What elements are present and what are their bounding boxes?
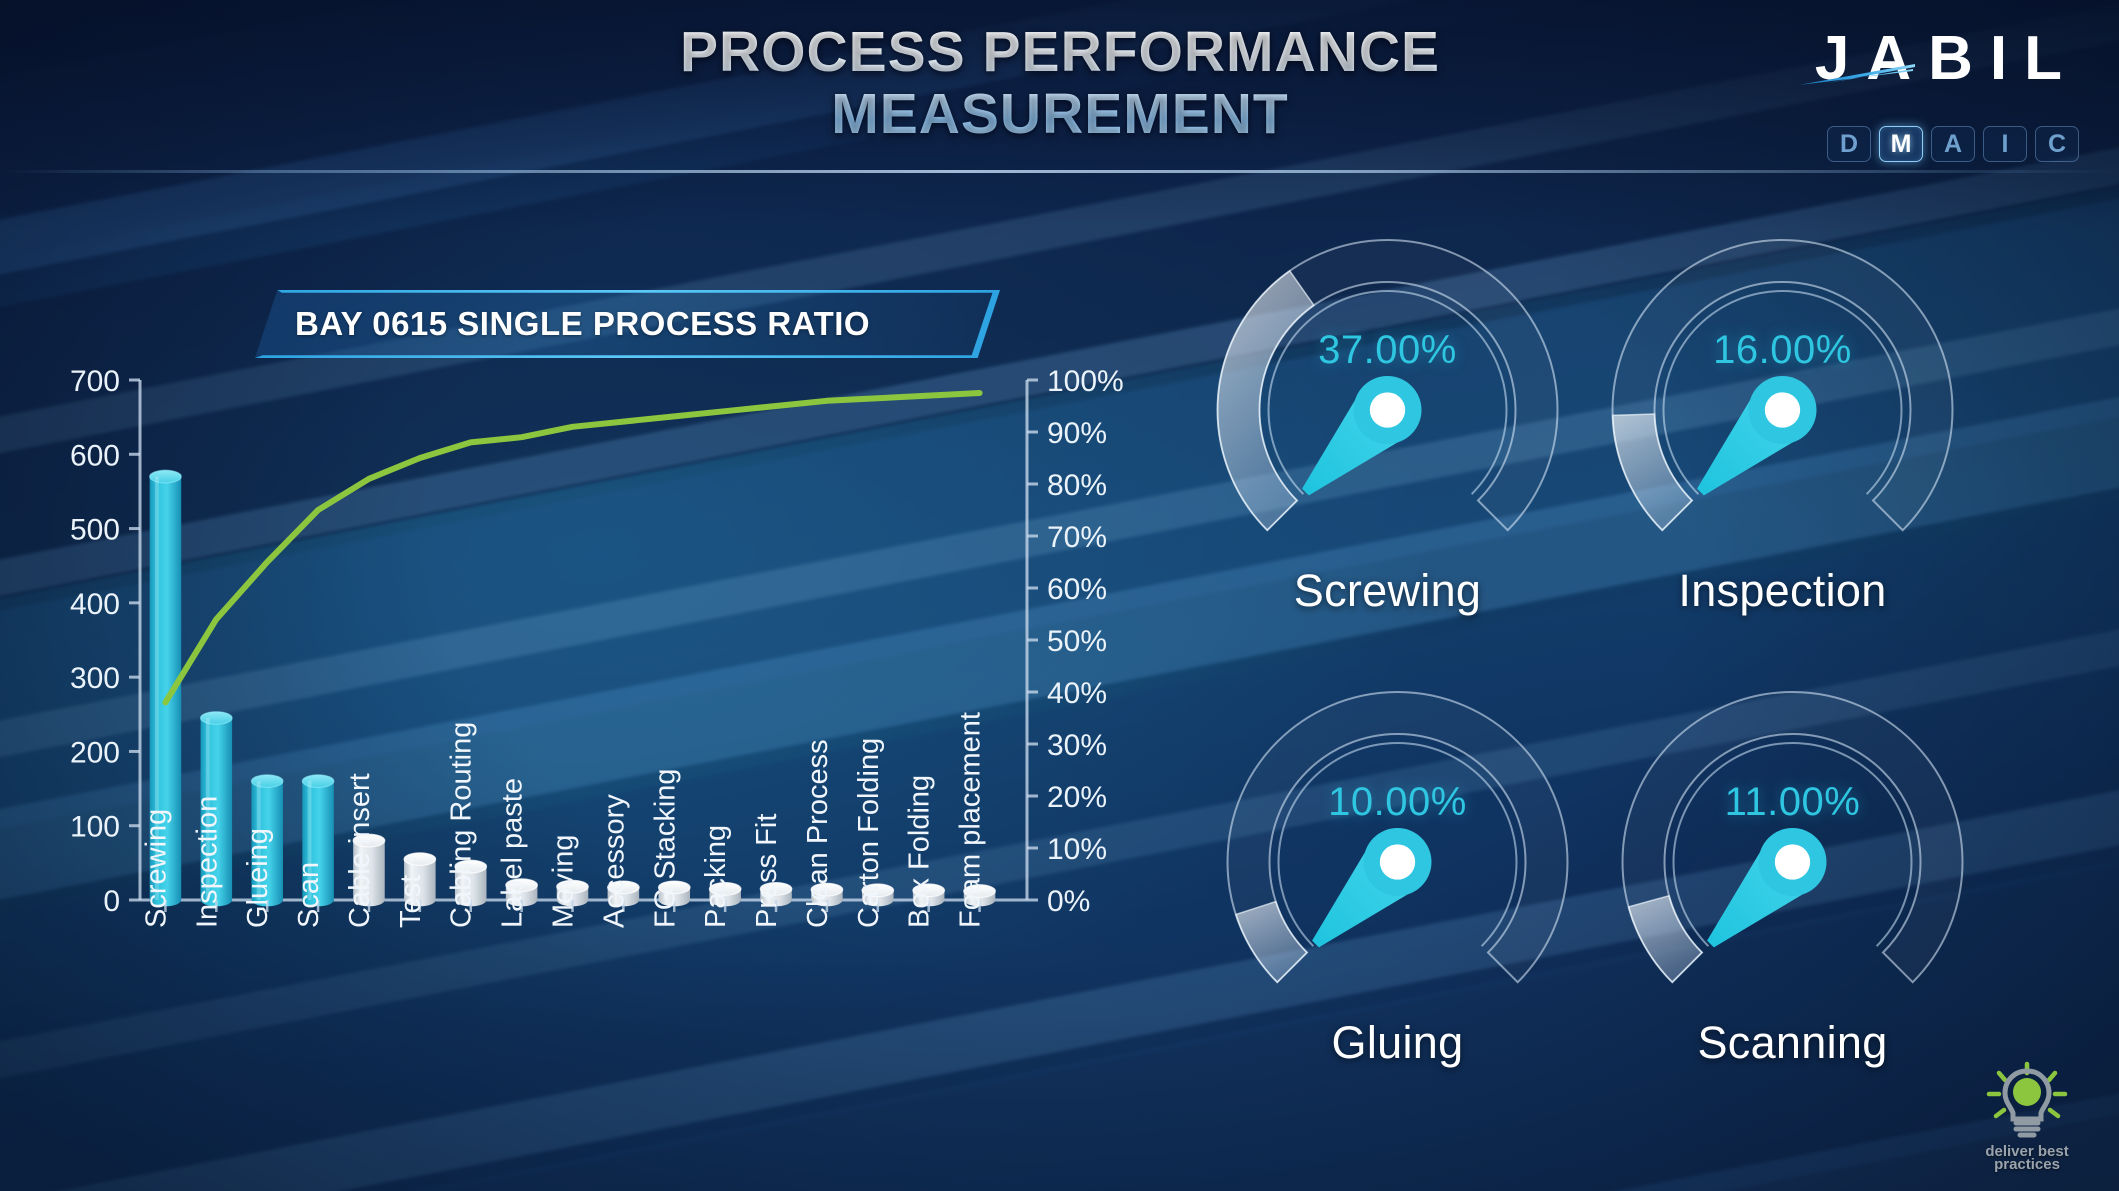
page-title-line2: MEASUREMENT xyxy=(560,84,1560,146)
x-axis-category-label: Carton Folding xyxy=(853,738,885,928)
gauge-value: 37.00% xyxy=(1190,328,1585,373)
dmaic-cell-i[interactable]: I xyxy=(1983,126,2027,162)
gauge-hub-center xyxy=(1775,844,1810,879)
x-axis-category-label: Packing xyxy=(700,825,732,928)
gauge-grid: 37.00%Screwing16.00%Inspection10.00%Glui… xyxy=(1190,210,1980,1110)
y2-axis-tick-label: 40% xyxy=(1047,677,1107,710)
y-axis-tick-label: 700 xyxy=(70,370,120,398)
y-axis-tick-label: 0 xyxy=(103,885,120,918)
dmaic-cell-d[interactable]: D xyxy=(1827,126,1871,162)
y2-axis-tick-label: 80% xyxy=(1047,469,1107,502)
gauge-hub-center xyxy=(1370,392,1405,427)
gauge-value: 11.00% xyxy=(1595,780,1990,825)
y2-axis-tick-label: 30% xyxy=(1047,729,1107,762)
gauge-hub-center xyxy=(1765,392,1800,427)
dmaic-cell-a[interactable]: A xyxy=(1931,126,1975,162)
x-axis-category-label: Foam placement xyxy=(955,712,987,928)
y2-axis-tick-label: 90% xyxy=(1047,417,1107,450)
x-axis-category-label: Accessory xyxy=(598,794,630,928)
pareto-cumulative-line xyxy=(165,393,979,702)
pareto-chart-plot: 01002003004005006007000%10%20%30%40%50%6… xyxy=(0,370,1180,1180)
gauge-value: 10.00% xyxy=(1200,780,1595,825)
y-axis-tick-label: 300 xyxy=(70,662,120,695)
chart-title-text: BAY 0615 SINGLE PROCESS RATIO xyxy=(255,290,1000,358)
x-axis-category-label: Press Fit xyxy=(751,814,783,928)
dbp-line2: practices xyxy=(1957,1156,2097,1173)
y-axis-tick-label: 500 xyxy=(70,514,120,547)
chart-title-banner: BAY 0615 SINGLE PROCESS RATIO xyxy=(255,290,1000,358)
header: PROCESS PERFORMANCE MEASUREMENT JABIL DM… xyxy=(0,0,2119,180)
gauge-caption: Screwing xyxy=(1190,565,1585,617)
dmaic-cell-c[interactable]: C xyxy=(2035,126,2079,162)
gauge-fill xyxy=(1629,896,1702,982)
y2-axis-tick-label: 50% xyxy=(1047,625,1107,658)
gauge-inspection[interactable]: 16.00%Inspection xyxy=(1585,210,1980,660)
x-axis-category-label: Inspection xyxy=(191,796,223,928)
x-axis-category-label: Cabling Routing xyxy=(446,722,478,928)
x-axis-category-label: Scan xyxy=(293,862,325,928)
gauge-hub-center xyxy=(1380,844,1415,879)
y2-axis-tick-label: 100% xyxy=(1047,370,1124,398)
gauge-caption: Inspection xyxy=(1585,565,1980,617)
dmaic-cell-label: D xyxy=(1840,130,1858,159)
x-axis-category-label: Cable insert xyxy=(344,773,376,928)
gauge-gluing[interactable]: 10.00%Gluing xyxy=(1200,662,1595,1112)
dmaic-cell-label: I xyxy=(2002,130,2009,159)
y-axis-tick-label: 400 xyxy=(70,588,120,621)
dmaic-phase-indicator: DMAIC xyxy=(1827,126,2079,162)
dmaic-cell-m[interactable]: M xyxy=(1879,126,1923,162)
y2-axis-tick-label: 70% xyxy=(1047,521,1107,554)
x-axis-category-label: Screwing xyxy=(140,809,172,928)
x-axis-category-label: Box Folding xyxy=(904,775,936,928)
deliver-best-practices-logo: deliver best practices xyxy=(1957,1061,2097,1181)
gauge-caption: Scanning xyxy=(1595,1017,1990,1069)
y2-axis-tick-label: 0% xyxy=(1047,885,1090,918)
x-axis-category-label: Glueing xyxy=(242,828,274,928)
dmaic-cell-label: C xyxy=(2048,130,2066,159)
y2-axis-tick-label: 10% xyxy=(1047,833,1107,866)
x-axis-category-label: FG Stacking xyxy=(649,768,681,928)
pareto-chart-panel: BAY 0615 SINGLE PROCESS RATIO 0100200300… xyxy=(0,200,1180,1190)
x-axis-category-label: Moving xyxy=(548,835,580,929)
y2-axis-tick-label: 20% xyxy=(1047,781,1107,814)
x-axis-category-label: Test xyxy=(395,875,427,928)
x-axis-category-label: Clean Process xyxy=(802,739,834,928)
page-title: PROCESS PERFORMANCE MEASUREMENT xyxy=(560,22,1560,145)
lightbulb-icon xyxy=(1972,1061,2082,1147)
page-title-line1: PROCESS PERFORMANCE xyxy=(560,22,1560,84)
gauge-value: 16.00% xyxy=(1585,328,1980,373)
y-axis-tick-label: 200 xyxy=(70,736,120,769)
header-divider xyxy=(0,170,2119,173)
y2-axis-tick-label: 60% xyxy=(1047,573,1107,606)
y-axis-tick-label: 600 xyxy=(70,439,120,472)
gauge-scanning[interactable]: 11.00%Scanning xyxy=(1595,662,1990,1112)
gauge-caption: Gluing xyxy=(1200,1017,1595,1069)
gauge-screwing[interactable]: 37.00%Screwing xyxy=(1190,210,1585,660)
jabil-logo-text: JABIL xyxy=(1751,24,2081,94)
y-axis-tick-label: 100 xyxy=(70,811,120,844)
dmaic-cell-label: A xyxy=(1944,130,1962,159)
dmaic-cell-label: M xyxy=(1891,130,1912,159)
x-axis-category-label: Label paste xyxy=(497,778,529,928)
